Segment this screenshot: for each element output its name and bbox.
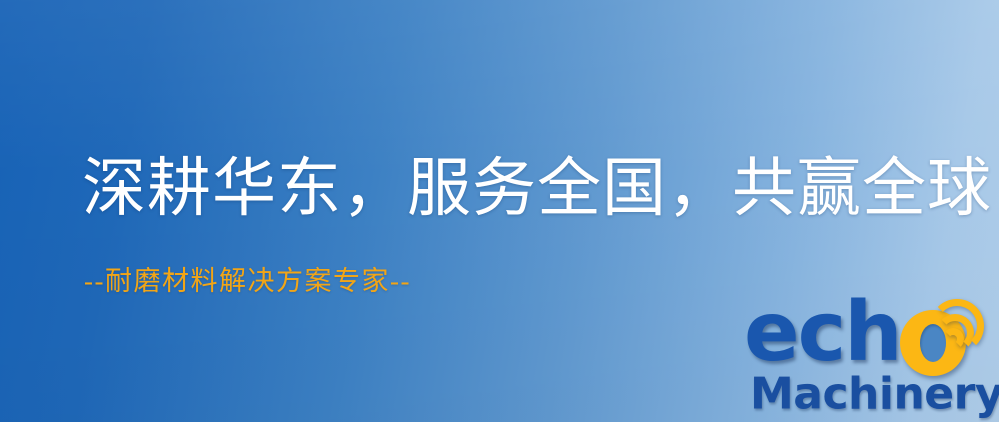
banner-headline: 深耕华东，服务全国，共赢全球 xyxy=(82,152,992,226)
logo-tagline-wrap: Machinery® xyxy=(750,362,999,420)
echo-machinery-logo[interactable]: ech Machinery® xyxy=(742,296,994,422)
banner-subtitle: --耐磨材料解决方案专家-- xyxy=(84,265,411,297)
signal-waves-icon xyxy=(930,294,996,350)
signal-wave-outer xyxy=(930,299,984,353)
logo-tagline-machinery: Machinery xyxy=(750,369,999,420)
promotional-banner: 深耕华东，服务全国，共赢全球 --耐磨材料解决方案专家-- ech Machin… xyxy=(0,0,999,422)
